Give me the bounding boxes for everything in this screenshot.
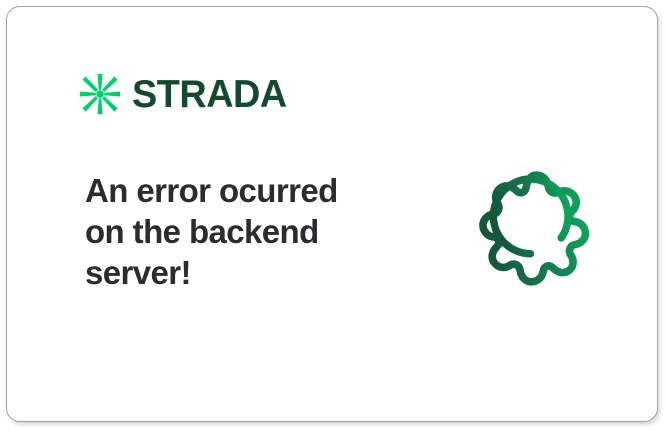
gear-illustration: [450, 145, 616, 311]
error-card: STRADA An error ocurred on the backend s…: [6, 6, 658, 422]
brand-wordmark: STRADA: [132, 75, 287, 114]
brand-lockup: STRADA: [79, 73, 292, 115]
error-message: An error ocurred on the backend server!: [85, 170, 385, 293]
gear-icon: [450, 145, 616, 311]
screen: STRADA An error ocurred on the backend s…: [0, 0, 666, 436]
strada-asterisk-icon: [79, 73, 121, 115]
